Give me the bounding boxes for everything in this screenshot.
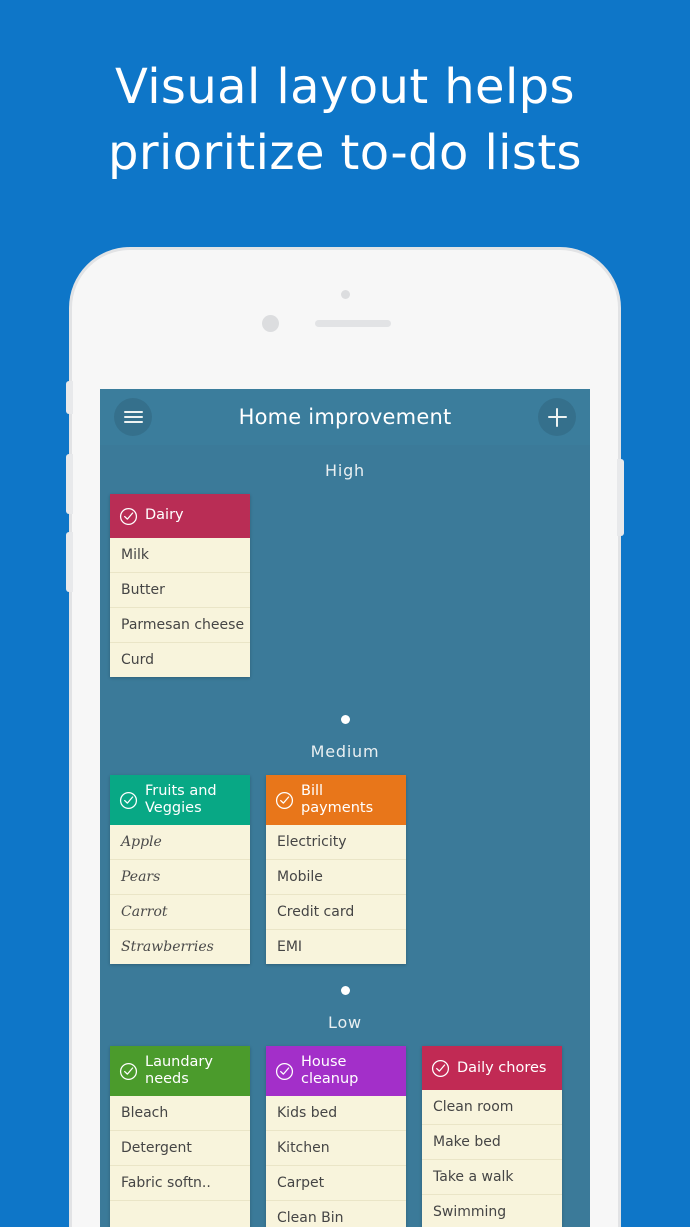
card-item-list: Milk Butter Parmesan cheese Curd <box>110 538 250 677</box>
card-item[interactable]: Parmesan cheese <box>110 608 250 643</box>
card-title: Fruits and Veggies <box>145 783 242 817</box>
app-screen: Home improvement High <box>100 389 590 1227</box>
card-item[interactable]: Strawberries <box>110 930 250 964</box>
card-item[interactable]: Kitchen <box>266 1131 406 1166</box>
check-circle-icon <box>431 1059 450 1078</box>
card-item[interactable]: Credit card <box>266 895 406 930</box>
hamburger-icon <box>124 411 143 424</box>
check-circle-icon <box>275 1062 294 1081</box>
section-label-low: Low <box>100 1013 590 1032</box>
front-camera-icon <box>262 315 279 332</box>
section-label-high: High <box>100 461 590 480</box>
card-item-list: Bleach Detergent Fabric softn.. <box>110 1096 250 1227</box>
card-item[interactable]: Milk <box>110 538 250 573</box>
card-item[interactable]: Detergent <box>110 1131 250 1166</box>
card-item[interactable]: Electricity <box>266 825 406 860</box>
plus-icon <box>548 408 567 427</box>
card-item[interactable]: Mobile <box>266 860 406 895</box>
volume-down-button[interactable] <box>66 532 73 592</box>
task-card-house-cleanup[interactable]: House cleanup Kids bed Kitchen Carpet Cl… <box>266 1046 406 1227</box>
card-item[interactable]: Carrot <box>110 895 250 930</box>
promo-headline: Visual layout helps prioritize to-do lis… <box>0 54 690 186</box>
priority-board: High Dairy Milk Butter <box>100 461 590 1227</box>
check-circle-icon <box>119 791 138 810</box>
card-item[interactable]: Pears <box>110 860 250 895</box>
add-task-button[interactable] <box>538 398 576 436</box>
section-dot-separator <box>341 986 350 995</box>
card-item-list: Electricity Mobile Credit card EMI <box>266 825 406 964</box>
check-circle-icon <box>275 791 294 810</box>
task-card-daily-chores[interactable]: Daily chores Clean room Make bed Take a … <box>422 1046 562 1227</box>
card-item[interactable]: Take a walk <box>422 1160 562 1195</box>
card-title: Bill payments <box>301 783 398 817</box>
card-item[interactable]: Apple <box>110 825 250 860</box>
page-title: Home improvement <box>152 405 538 429</box>
task-card-bill-payments[interactable]: Bill payments Electricity Mobile Credit … <box>266 775 406 964</box>
card-title: Daily chores <box>457 1060 546 1077</box>
card-item[interactable]: Swimming <box>422 1195 562 1227</box>
card-item[interactable]: Make bed <box>422 1125 562 1160</box>
check-circle-icon <box>119 507 138 526</box>
section-row-medium: Fruits and Veggies Apple Pears Carrot St… <box>100 775 590 964</box>
card-item[interactable]: EMI <box>266 930 406 964</box>
card-item[interactable]: Butter <box>110 573 250 608</box>
card-header[interactable]: Laundary needs <box>110 1046 250 1096</box>
card-item-list: Clean room Make bed Take a walk Swimming <box>422 1090 562 1227</box>
promo-line-2: prioritize to-do lists <box>0 120 690 186</box>
section-row-low: Laundary needs Bleach Detergent Fabric s… <box>100 1046 590 1227</box>
card-item[interactable]: Clean Bin <box>266 1201 406 1227</box>
card-item-list: Kids bed Kitchen Carpet Clean Bin <box>266 1096 406 1227</box>
menu-button[interactable] <box>114 398 152 436</box>
card-header[interactable]: Bill payments <box>266 775 406 825</box>
card-item-list: Apple Pears Carrot Strawberries <box>110 825 250 964</box>
card-item-empty <box>110 1201 250 1227</box>
card-header[interactable]: Dairy <box>110 494 250 538</box>
earpiece-speaker-icon <box>315 320 391 327</box>
section-dot-separator <box>341 715 350 724</box>
card-item[interactable]: Fabric softn.. <box>110 1166 250 1201</box>
task-card-fruits-and-veggies[interactable]: Fruits and Veggies Apple Pears Carrot St… <box>110 775 250 964</box>
check-circle-icon <box>119 1062 138 1081</box>
promo-line-1: Visual layout helps <box>0 54 690 120</box>
card-item[interactable]: Carpet <box>266 1166 406 1201</box>
power-button[interactable] <box>617 459 624 536</box>
card-item[interactable]: Clean room <box>422 1090 562 1125</box>
card-title: House cleanup <box>301 1054 398 1088</box>
card-header[interactable]: Daily chores <box>422 1046 562 1090</box>
proximity-sensor-icon <box>341 290 350 299</box>
app-bar: Home improvement <box>100 389 590 445</box>
card-item[interactable]: Kids bed <box>266 1096 406 1131</box>
volume-up-button[interactable] <box>66 454 73 514</box>
card-title: Dairy <box>145 507 184 524</box>
card-title: Laundary needs <box>145 1054 242 1088</box>
task-card-dairy[interactable]: Dairy Milk Butter Parmesan cheese Curd <box>110 494 250 677</box>
section-row-high: Dairy Milk Butter Parmesan cheese Curd <box>100 494 590 677</box>
card-item[interactable]: Bleach <box>110 1096 250 1131</box>
card-item[interactable]: Curd <box>110 643 250 677</box>
section-label-medium: Medium <box>100 742 590 761</box>
card-header[interactable]: House cleanup <box>266 1046 406 1096</box>
phone-device-frame: Home improvement High <box>72 250 618 1227</box>
task-card-laundary-needs[interactable]: Laundary needs Bleach Detergent Fabric s… <box>110 1046 250 1227</box>
card-header[interactable]: Fruits and Veggies <box>110 775 250 825</box>
silent-switch-button[interactable] <box>66 381 73 414</box>
